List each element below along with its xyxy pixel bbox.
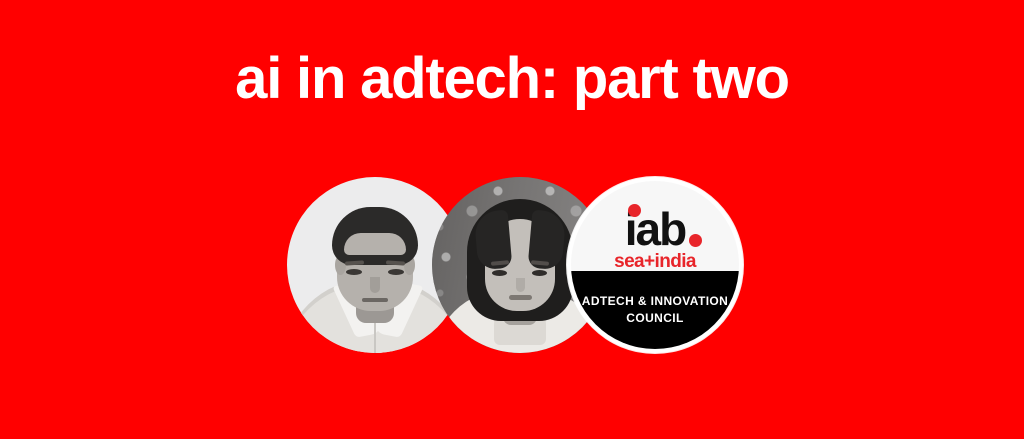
avatar-one-mouth (362, 298, 388, 302)
page-title: ai in adtech: part two (0, 48, 1024, 110)
iab-dot-icon (628, 204, 641, 217)
avatar-two-mouth (509, 295, 532, 300)
avatar-two-eye-left (492, 270, 507, 276)
promo-banner: ai in adtech: part two (0, 0, 1024, 439)
logo-band-line-two: COUNCIL (626, 310, 683, 327)
iab-wordmark: iab (625, 209, 685, 249)
avatar-one-eye-left (346, 269, 362, 275)
avatar-two-eye-right (532, 270, 547, 276)
iab-sea-india-logo: iab sea+india ADTECH & INNOVATION COUNCI… (567, 177, 743, 353)
logo-band-line-one: ADTECH & INNOVATION (582, 293, 729, 310)
avatar-one-hair (332, 207, 418, 265)
logo-council-band: ADTECH & INNOVATION COUNCIL (571, 271, 739, 349)
avatar-two-nose (516, 278, 525, 292)
avatar-logo-row: iab sea+india ADTECH & INNOVATION COUNCI… (287, 177, 743, 353)
iab-period-dot-icon (689, 234, 702, 247)
logo-wordmark-area: iab sea+india (571, 181, 739, 279)
avatar-one-eye-right (388, 269, 404, 275)
avatar-one-nose (370, 277, 380, 293)
